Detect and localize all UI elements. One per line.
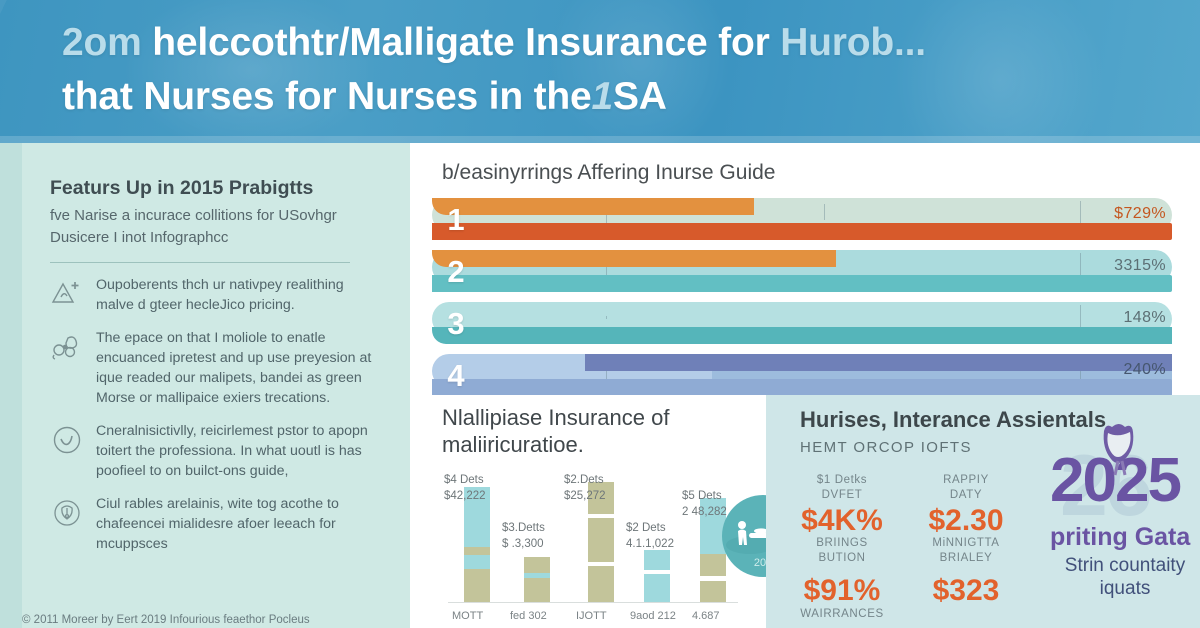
header-subtitle-numeral: 1 [591,75,613,118]
header-title-main: helccothtr/Malligate Insurance for [152,21,769,64]
list-item-text: Cneralnisictivlly, reicirlemest pstor to… [96,421,380,482]
axis-tick-label: 9aod 212 [630,610,676,622]
stat-caption: $1 Detks DVFET [782,473,902,503]
footer-credit: © 2011 Moreer by Eert 2019 Infourious fe… [22,614,412,626]
chart-axis-line [448,602,738,603]
column-bar-label: $5 Dets2 48,282 [682,489,727,520]
axis-tick-label: MOTT [452,610,483,622]
header-title-block: 2om helccothtr/Malligate Insurance for H… [62,16,1182,124]
stat-value: $2.30 [906,505,1026,537]
bar-fill-secondary [432,275,1172,292]
column-bar-label: $2.Dets$25,272 [564,473,606,504]
left-sidebar: Featurs Up in 2015 Prabigtts fve Narise … [0,143,410,628]
check-circle-icon [50,423,84,457]
stat-block: $323 [906,573,1026,607]
bar-fill-primary [432,250,836,267]
molecule-cluster-icon [50,330,84,364]
column-bar [464,487,490,602]
stat-sub-caption: BRIINGS BUTION [782,536,902,566]
bar-fill-primary [432,327,1172,344]
sidebar-subtitle: fve Narise a incurace collitions for USo… [50,205,380,248]
column-chart-title: Nlallipiase Insurance of maliiricuratioe… [442,405,766,459]
list-item: Oupoberents thch ur nativpey realithing … [50,275,380,316]
axis-tick-label: fed 302 [510,610,547,622]
sidebar-divider [50,262,350,263]
column-chart-panel: Nlallipiase Insurance of maliiricuratioe… [410,395,766,628]
stat-block: RAPPIY DATY $2.30 MiNNIGTTA BRIALEY [906,473,1026,566]
column-bar [524,557,550,602]
stat-value: $91% [782,575,902,607]
column-bar-label: $4 Dets$42,222 [444,473,486,504]
bar-fill-primary [585,354,1172,371]
stats-panel: Hurises, Interance Assientals HEMT ORCOP… [766,395,1200,628]
column-bar [644,550,670,602]
target-shield-icon [50,496,84,530]
main-content: b/easinyrrings Affering Inurse Guide 1 $… [410,143,1200,628]
stat-sub-caption: WAIRRANCES [782,607,902,622]
bar-value-label: $729% [1114,205,1166,223]
bar-row: 1 $729% [432,198,1172,246]
column-chart-plot: $4 Dets$42,222 $3.Detts$ .3,300 [436,475,752,625]
header-title-prefix: 2om [62,21,142,64]
header-title-line-1: 2om helccothtr/Malligate Insurance for H… [62,16,1182,70]
list-item-text: The epace on that I moliole to enatle en… [96,328,380,409]
stat-block: $1 Detks DVFET $4K% BRIINGS BUTION [782,473,902,566]
year-note: Strin countaity iquats [1050,555,1200,601]
list-item-text: Ciul rables arelainis, wite tog acothe t… [96,494,380,555]
header-bottom-stripe [0,136,1200,143]
bar-rank-badge: 3 [436,304,476,344]
header-title-line-2: that Nurses for Nurses in the1SA [62,70,1182,124]
header-subtitle-suffix: SA [613,75,667,118]
stats-panel-subtitle: HEMT ORCOP IOFTS [800,439,972,456]
list-item: Cneralnisictivlly, reicirlemest pstor to… [50,421,380,482]
list-item: Ciul rables arelainis, wite tog acothe t… [50,494,380,555]
stat-value: $4K% [782,505,902,537]
page-header: 2om helccothtr/Malligate Insurance for H… [0,0,1200,143]
stat-value: $323 [906,575,1026,607]
bar-rank-badge: 2 [436,252,476,292]
sidebar-title: Featurs Up in 2015 Prabigtts [50,176,380,200]
stat-caption: RAPPIY DATY [906,473,1026,503]
bar-fill-secondary [432,379,1172,396]
stat-block: $91% WAIRRANCES [782,573,902,621]
bar-value-label: 148% [1123,309,1166,327]
column-bar-label: $2 Dets4.1.1,022 [626,521,674,552]
header-subtitle-main: that Nurses for Nurses in the [62,75,591,118]
axis-tick-label: 4.687 [692,610,720,622]
bar-row: 2 3315% [432,250,1172,298]
bar-rank-badge: 4 [436,356,476,396]
shield-badge-icon [1094,417,1144,479]
bar-row: 3 148% [432,302,1172,350]
header-title-suffix: Hurob... [780,21,926,64]
bar-fill-secondary [432,223,1172,240]
list-item-text: Oupoberents thch ur nativpey realithing … [96,275,380,316]
column-bar-label: $3.Detts$ .3,300 [502,521,545,552]
stats-panel-title: Hurises, Interance Assientals [800,407,1106,433]
year-subtitle: priting Gata [1050,523,1190,552]
lower-section: Nlallipiase Insurance of maliiricuratioe… [410,395,1200,628]
warning-triangle-plus-icon [50,277,84,311]
list-item: The epace on that I moliole to enatle en… [50,328,380,409]
bar-value-label: 240% [1123,361,1166,379]
bar-value-label: 3315% [1114,257,1166,275]
stat-sub-caption: MiNNIGTTA BRIALEY [906,536,1026,566]
bar-chart-title: b/easinyrrings Affering Inurse Guide [442,161,775,185]
bar-rank-badge: 1 [436,200,476,240]
axis-tick-label: IJOTT [576,610,607,622]
bar-fill-primary [432,198,754,215]
